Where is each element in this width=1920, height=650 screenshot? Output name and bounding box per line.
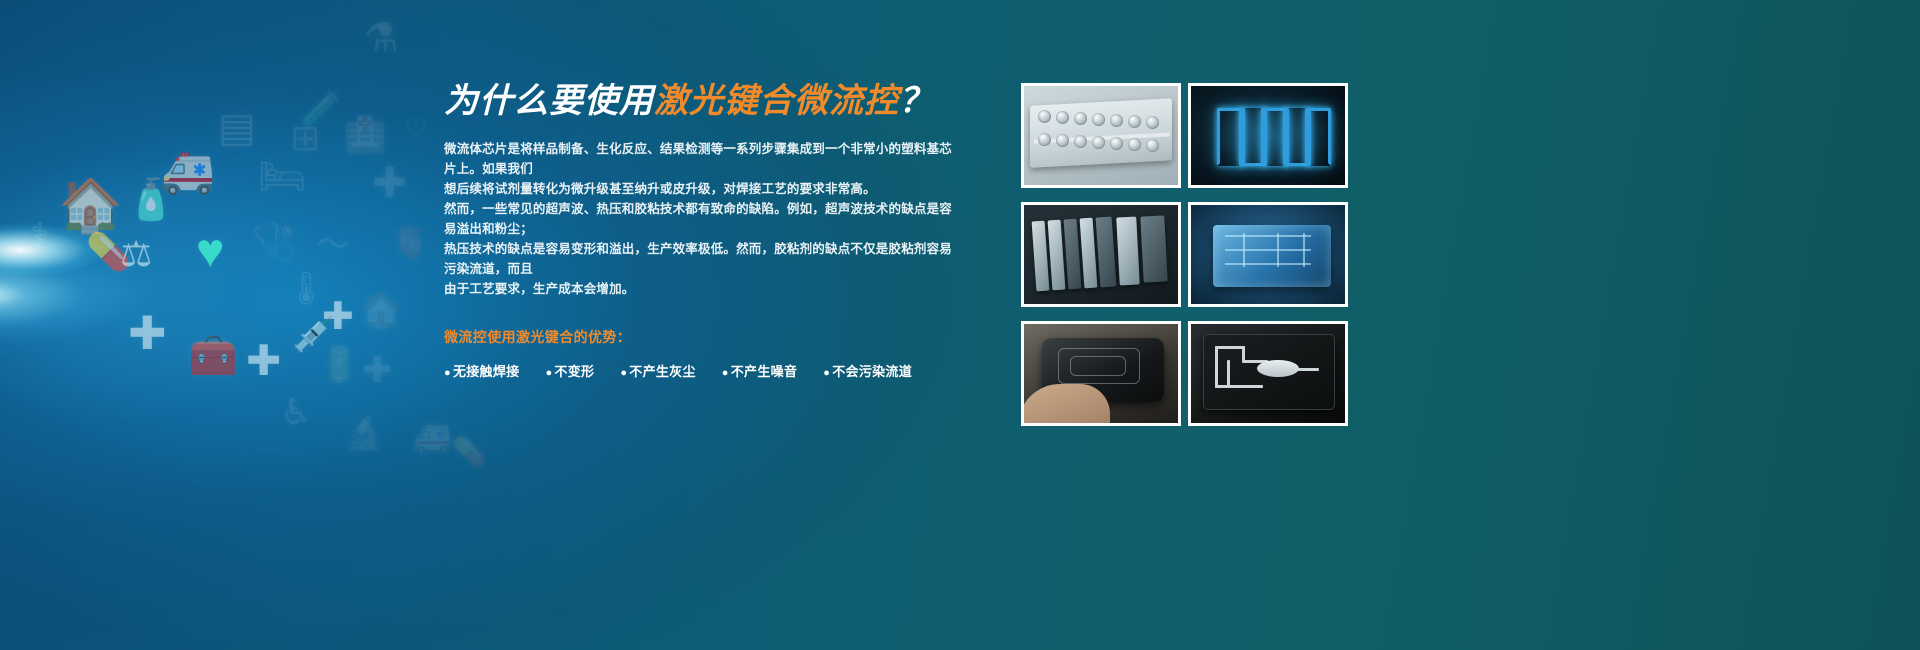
body-line: 想后续将试剂量转化为微升级甚至纳升或皮升级，对焊接工艺的要求非常高。: [444, 179, 964, 199]
list-item: ●不产生噪音: [722, 361, 797, 380]
photo-chip-array[interactable]: [1021, 202, 1181, 307]
promo-banner: ⚗🧪▤⊞🏥♡🚑🛏✚🏠🧴⚕💊🩺♥⚖〜🫀🌡✚🏠✚💉🧰✚🔋✚♿🔬🚑💊 为什么要使用激光…: [0, 0, 1920, 650]
light-beam-core: [0, 205, 200, 295]
list-item-label: 不产生噪音: [731, 364, 798, 379]
list-item: ●无接触焊接: [444, 361, 519, 380]
list-item: ●不会污染流道: [823, 361, 912, 380]
watermark-icon: ⚗: [363, 18, 399, 58]
photo-black-cartridge[interactable]: [1188, 321, 1348, 426]
body-line: 热压技术的缺点是容易变形和溢出，生产效率极低。然而，胶粘剂的缺点不仅是胶粘剂容易…: [444, 239, 964, 279]
watermark-icon: ▤: [218, 108, 256, 148]
body-line: 微流体芯片是将样品制备、生化反应、结果检测等一系列步骤集成到一个非常小的塑料基芯…: [444, 139, 964, 179]
watermark-icon: 🧪: [300, 92, 342, 126]
bullet-dot-icon: ●: [545, 367, 552, 379]
text-column: 为什么要使用激光键合微流控？ 微流体芯片是将样品制备、生化反应、结果检测等一系列…: [444, 82, 964, 380]
headline-tail: ？: [899, 82, 934, 120]
body-line: 然而，一些常见的超声波、热压和胶粘技术都有致命的缺陷。例如，超声波技术的缺点是容…: [444, 199, 964, 239]
bullet-dot-icon: ●: [620, 367, 627, 379]
watermark-icon: ♡: [404, 116, 427, 142]
product-photo-grid: [1021, 83, 1348, 426]
photo-serpentine-channel[interactable]: [1188, 83, 1348, 188]
light-beam-glow: [0, 150, 440, 440]
list-item-label: 不产生灰尘: [629, 364, 696, 379]
watermark-icon: 🏥: [344, 118, 386, 152]
page-title: 为什么要使用激光键合微流控？: [444, 82, 964, 121]
advantages-list: ●无接触焊接 ●不变形 ●不产生灰尘 ●不产生噪音 ●不会污染流道: [444, 361, 964, 380]
bullet-dot-icon: ●: [823, 367, 830, 379]
list-item-label: 无接触焊接: [453, 364, 520, 379]
headline-lead: 为什么要使用: [444, 82, 654, 120]
advantages-subheading: 微流控使用激光键合的优势：: [444, 327, 964, 347]
list-item-label: 不会污染流道: [832, 364, 912, 379]
body-copy: 微流体芯片是将样品制备、生化反应、结果检测等一系列步骤集成到一个非常小的塑料基芯…: [444, 139, 964, 299]
bullet-dot-icon: ●: [444, 367, 451, 379]
photo-blue-manifold[interactable]: [1188, 202, 1348, 307]
list-item: ●不变形: [545, 361, 594, 380]
photo-clear-chip-wells[interactable]: [1021, 83, 1181, 188]
body-line: 由于工艺要求，生产成本会增加。: [444, 279, 964, 299]
photo-black-moulded-part[interactable]: [1021, 321, 1181, 426]
watermark-icon: 💊: [452, 438, 487, 466]
headline-highlight: 激光键合微流控: [654, 82, 899, 120]
list-item-label: 不变形: [554, 364, 594, 379]
bullet-dot-icon: ●: [722, 367, 729, 379]
list-item: ●不产生灰尘: [620, 361, 695, 380]
